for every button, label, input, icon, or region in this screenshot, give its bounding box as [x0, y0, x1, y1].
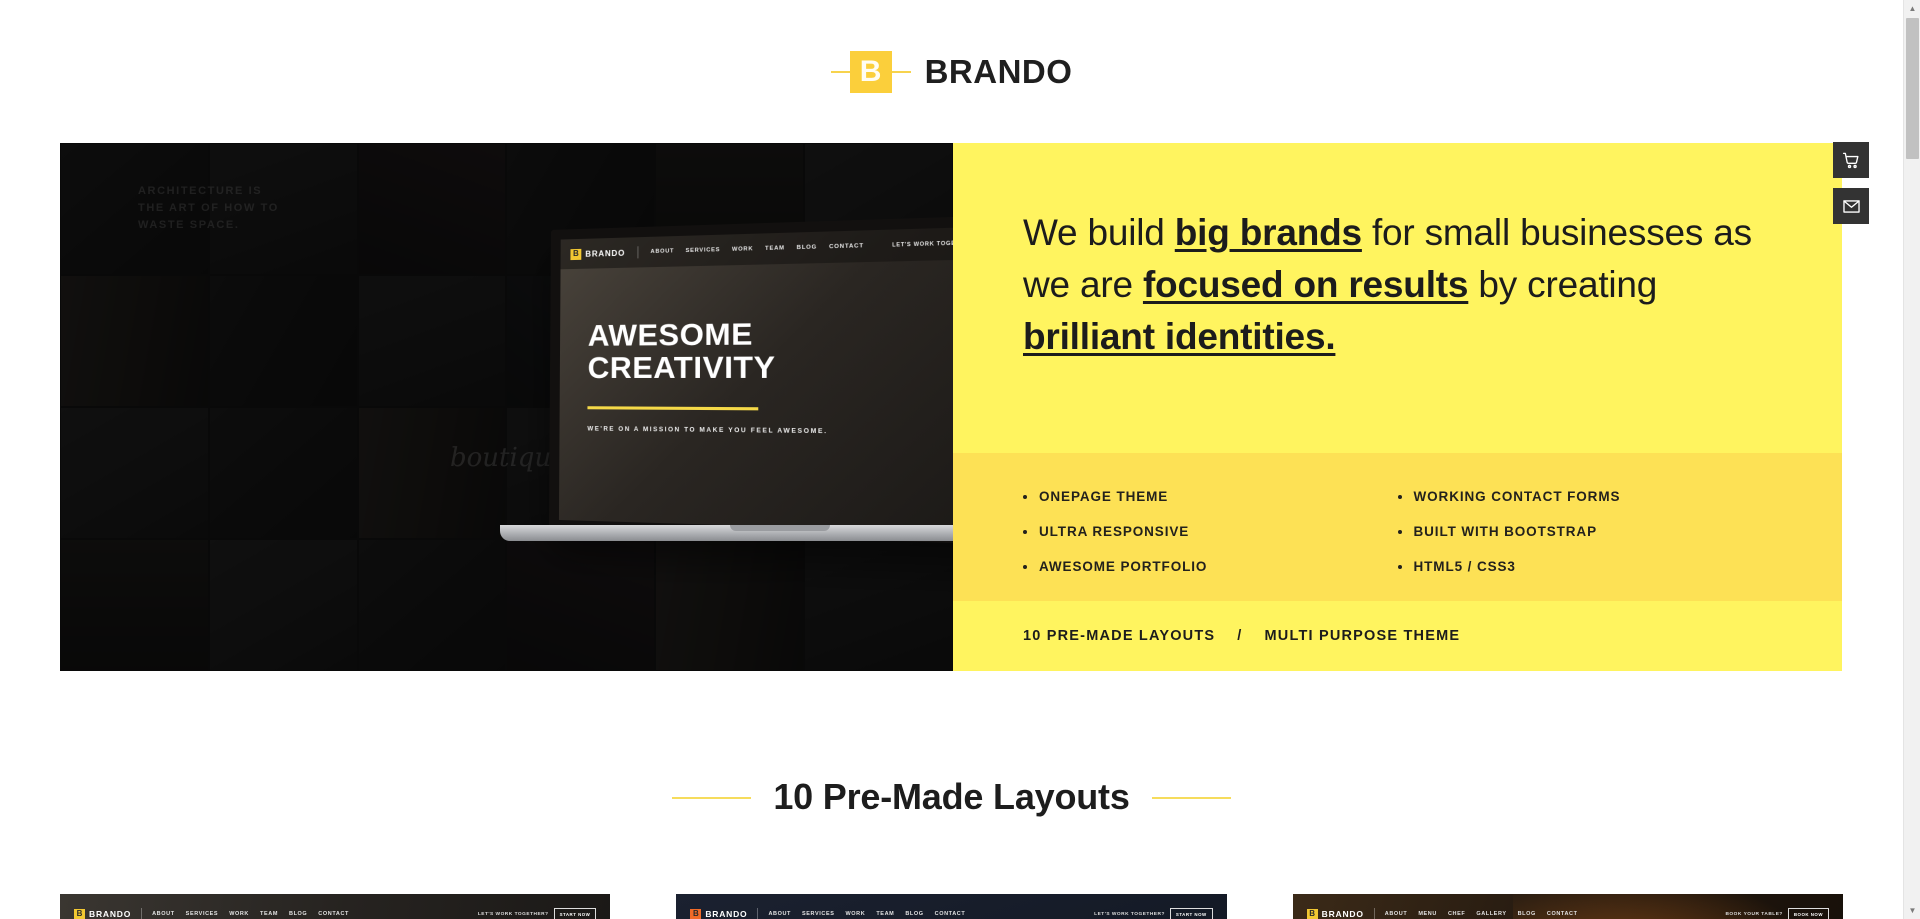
page-root: B BRANDO ARCHITECTURE IS THE ART OF HOW … — [0, 0, 1903, 919]
scrollbar-thumb[interactable] — [1906, 18, 1919, 159]
layout-thumbnail[interactable]: B BRANDO ABOUT MENU CHEF GALLERY BLOG CO… — [1293, 894, 1843, 919]
thumbnail-cta-button: START NOW — [1170, 908, 1213, 919]
thumbnail-nav-menu: ABOUT SERVICES WORK TEAM BLOG CONTACT — [152, 911, 349, 917]
cart-icon — [1842, 151, 1861, 170]
contact-button[interactable] — [1833, 188, 1869, 224]
laptop-title-line2: CREATIVITY — [588, 350, 953, 385]
scrollbar-up-arrow-icon[interactable]: ▲ — [1904, 0, 1920, 17]
laptop-hero-body: AWESOME CREATIVITY WE'RE ON A MISSION TO… — [560, 258, 953, 438]
section-title: 10 Pre-Made Layouts — [751, 776, 1151, 818]
thumbnail-navbar: B BRANDO ABOUT MENU CHEF GALLERY BLOG CO… — [1293, 901, 1843, 919]
panel-headline: We build big brands for small businesses… — [1023, 207, 1780, 363]
panel-headline-wrap: We build big brands for small businesses… — [953, 143, 1842, 453]
thumbnail-nav-item: CHEF — [1448, 911, 1465, 917]
feature-item: HTML5 / CSS3 — [1398, 559, 1773, 574]
laptop-nav-item-about: ABOUT — [651, 248, 675, 255]
thumbnail-nav-item: ABOUT — [1385, 911, 1408, 917]
feature-column-left: ONEPAGE THEME ULTRA RESPONSIVE AWESOME P… — [1023, 489, 1398, 594]
laptop-base — [500, 525, 953, 541]
laptop-title-line1: AWESOME — [588, 315, 953, 352]
feature-item: ULTRA RESPONSIVE — [1023, 524, 1398, 539]
thumbnail-cta-text: BOOK YOUR TABLE? — [1725, 912, 1782, 917]
floating-action-buttons — [1833, 142, 1869, 224]
thumbnail-nav-item: WORK — [229, 911, 249, 917]
thumbnail-nav-item: CONTACT — [1547, 911, 1578, 917]
thumbnail-cta-button: START NOW — [554, 908, 597, 919]
thumbnail-cta-text: LET'S WORK TOGETHER? — [478, 912, 549, 917]
laptop-notch — [730, 525, 830, 531]
thumbnail-nav-divider — [1374, 908, 1375, 919]
thumbnail-cta-button: BOOK NOW — [1788, 908, 1829, 919]
laptop-cta-text: LET'S WORK TOGETHER? — [892, 240, 953, 249]
laptop-nav-item-services: SERVICES — [686, 247, 721, 254]
panel-feature-list: ONEPAGE THEME ULTRA RESPONSIVE AWESOME P… — [953, 453, 1842, 601]
thumbnail-logo-text: BRANDO — [705, 909, 747, 919]
thumbnail-logo-square-icon: B — [74, 909, 85, 919]
thumbnail-logo: B BRANDO — [690, 909, 747, 919]
thumbnail-nav-item: BLOG — [905, 911, 923, 917]
headline-emphasis-2: focused on results — [1143, 264, 1468, 305]
laptop-logo-square-icon: B — [570, 248, 581, 259]
brand-square-icon: B — [850, 51, 892, 93]
site-header: B BRANDO — [0, 0, 1903, 143]
brand-dash-right — [892, 71, 911, 73]
laptop-nav-menu: ABOUT SERVICES WORK TEAM BLOG CONTACT — [651, 243, 864, 255]
feature-item: AWESOME PORTFOLIO — [1023, 559, 1398, 574]
thumbnail-nav-cta: BOOK YOUR TABLE? BOOK NOW — [1725, 908, 1829, 919]
thumbnail-logo: B BRANDO — [1307, 909, 1364, 919]
laptop-mockup: B BRANDO ABOUT SERVICES WORK TEAM BLOG C… — [500, 229, 953, 559]
thumbnail-nav-item: WORK — [846, 911, 866, 917]
thumbnail-nav-item: TEAM — [876, 911, 894, 917]
feature-column-right: WORKING CONTACT FORMS BUILT WITH BOOTSTR… — [1398, 489, 1773, 594]
laptop-logo-text: BRANDO — [585, 248, 625, 258]
thumbnail-nav-item: CONTACT — [318, 911, 349, 917]
thumbnail-nav-menu: ABOUT MENU CHEF GALLERY BLOG CONTACT — [1385, 911, 1578, 917]
page-scrollbar[interactable]: ▲ ▼ — [1903, 0, 1920, 919]
thumbnail-nav-item: ABOUT — [768, 911, 791, 917]
laptop-nav-item-team: TEAM — [765, 245, 785, 252]
feature-item: ONEPAGE THEME — [1023, 489, 1398, 504]
thumbnail-navbar: B BRANDO ABOUT SERVICES WORK TEAM BLOG C… — [676, 901, 1226, 919]
laptop-screen: B BRANDO ABOUT SERVICES WORK TEAM BLOG C… — [549, 214, 953, 547]
headline-part-1: We build — [1023, 212, 1175, 253]
thumbnail-nav-divider — [141, 908, 142, 919]
laptop-title-underline — [587, 406, 758, 410]
hero-yellow-panel: We build big brands for small businesses… — [953, 143, 1842, 671]
headline-emphasis-3: brilliant identities. — [1023, 316, 1335, 357]
headline-part-4: by creating — [1478, 264, 1657, 305]
thumbnail-nav-item: BLOG — [289, 911, 307, 917]
laptop-nav-item-contact: CONTACT — [829, 243, 864, 250]
thumbnail-logo-square-icon: B — [1307, 909, 1318, 919]
thumbnail-cta-text: LET'S WORK TOGETHER? — [1094, 912, 1165, 917]
thumbnail-nav-cta: LET'S WORK TOGETHER? START NOW — [478, 908, 597, 919]
thumbnail-nav-item: MENU — [1418, 911, 1437, 917]
section-title-wrap: 10 Pre-Made Layouts — [0, 767, 1903, 827]
collage-caption: ARCHITECTURE IS THE ART OF HOW TO WASTE … — [138, 183, 288, 234]
layout-thumbnail[interactable]: B BRANDO ABOUT SERVICES WORK TEAM BLOG C… — [60, 894, 610, 919]
brand-mark: B — [831, 51, 911, 93]
feature-item: WORKING CONTACT FORMS — [1398, 489, 1773, 504]
thumbnail-logo-text: BRANDO — [1322, 909, 1364, 919]
thumbnail-nav-cta: LET'S WORK TOGETHER? START NOW — [1094, 908, 1213, 919]
thumbnail-nav-item: BLOG — [1518, 911, 1536, 917]
thumbnail-nav-item: CONTACT — [935, 911, 966, 917]
headline-emphasis-1: big brands — [1175, 212, 1362, 253]
thumbnail-nav-item: SERVICES — [802, 911, 835, 917]
layouts-section: 10 Pre-Made Layouts B BRANDO ABOUT SERVI… — [0, 767, 1903, 919]
thumbnail-logo: B BRANDO — [74, 909, 131, 919]
panel-footer-bar: 10 PRE-MADE LAYOUTS / MULTI PURPOSE THEM… — [953, 601, 1842, 671]
thumbnail-nav-item: ABOUT — [152, 911, 175, 917]
thumbnail-nav-item: GALLERY — [1476, 911, 1506, 917]
brand-dash-left — [831, 71, 850, 73]
panel-footer-right: MULTI PURPOSE THEME — [1265, 628, 1461, 644]
headline-part-2: for small — [1362, 212, 1510, 253]
thumbnail-nav-divider — [757, 908, 758, 919]
thumbnail-logo-text: BRANDO — [89, 909, 131, 919]
thumbnail-nav-menu: ABOUT SERVICES WORK TEAM BLOG CONTACT — [768, 911, 965, 917]
thumbnail-nav-item: SERVICES — [186, 911, 219, 917]
laptop-nav-item-blog: BLOG — [797, 244, 817, 251]
thumbnail-logo-square-icon: B — [690, 909, 701, 919]
laptop-nav-divider — [637, 246, 638, 258]
layout-thumbnail[interactable]: B BRANDO ABOUT SERVICES WORK TEAM BLOG C… — [676, 894, 1226, 919]
panel-footer-divider: / — [1237, 628, 1242, 644]
brand-logo[interactable]: B BRANDO — [831, 51, 1073, 93]
hero-section: ARCHITECTURE IS THE ART OF HOW TO WASTE … — [60, 143, 1843, 671]
thumbnail-navbar: B BRANDO ABOUT SERVICES WORK TEAM BLOG C… — [60, 901, 610, 919]
laptop-nav-item-work: WORK — [732, 246, 753, 253]
laptop-nav-cta: LET'S WORK TOGETHER? START NOW — [892, 235, 953, 252]
panel-footer-left: 10 PRE-MADE LAYOUTS — [1023, 628, 1215, 644]
brand-name: BRANDO — [925, 53, 1073, 91]
scrollbar-down-arrow-icon[interactable]: ▼ — [1904, 902, 1920, 919]
laptop-logo: B BRANDO — [570, 247, 625, 259]
envelope-icon — [1842, 197, 1861, 216]
hero-visual: ARCHITECTURE IS THE ART OF HOW TO WASTE … — [60, 143, 953, 671]
thumbnail-nav-item: TEAM — [260, 911, 278, 917]
feature-item: BUILT WITH BOOTSTRAP — [1398, 524, 1773, 539]
cart-button[interactable] — [1833, 142, 1869, 178]
layout-thumbnail-grid: B BRANDO ABOUT SERVICES WORK TEAM BLOG C… — [0, 894, 1903, 919]
